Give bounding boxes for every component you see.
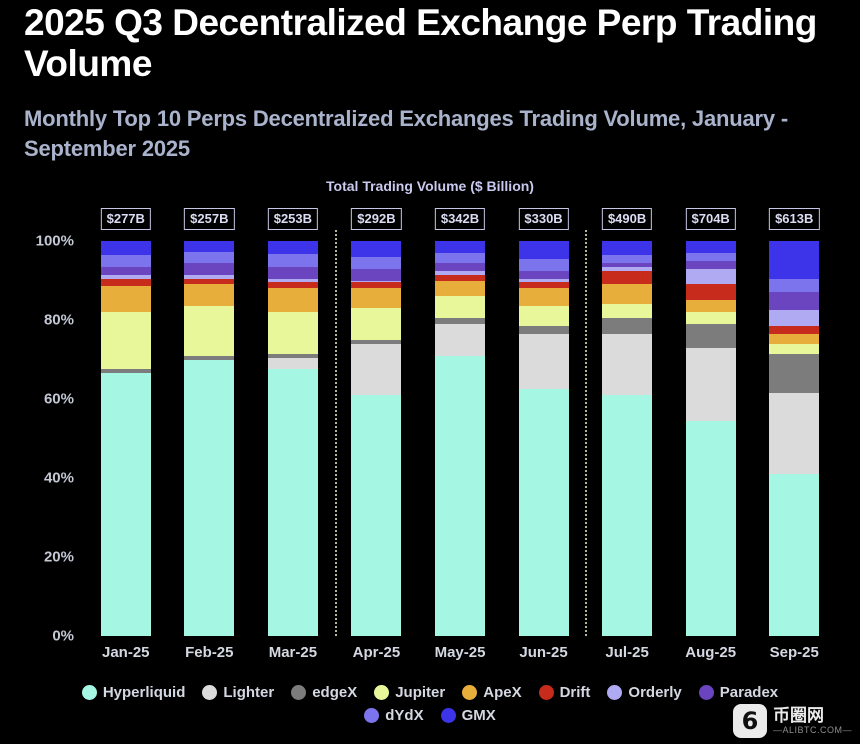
bar-segment-paradex[interactable] [268, 267, 318, 280]
bar-segment-gmx[interactable] [184, 241, 234, 252]
bar-segment-gmx[interactable] [769, 241, 819, 279]
page-subtitle: Monthly Top 10 Perps Decentralized Excha… [24, 104, 836, 165]
bar-segment-paradex[interactable] [519, 271, 569, 279]
legend-row-2: dYdXGMX [0, 707, 860, 724]
legend-swatch-icon [202, 685, 217, 700]
x-axis-tick: Mar-25 [269, 644, 317, 661]
bar-segment-edgex[interactable] [435, 318, 485, 324]
bar-segment-lighter[interactable] [435, 324, 485, 356]
watermark: 6 币圈网 —ALIBTC.COM— [733, 704, 852, 738]
bar-segment-hyperliquid[interactable] [602, 395, 652, 636]
bar-segment-jupiter[interactable] [268, 312, 318, 353]
legend-label: GMX [462, 707, 496, 724]
legend-item-hyperliquid[interactable]: Hyperliquid [82, 684, 186, 701]
y-axis-tick: 40% [44, 470, 74, 487]
bar-segment-drift[interactable] [351, 282, 401, 288]
bar-segment-dydx[interactable] [435, 253, 485, 263]
bar-segment-drift[interactable] [101, 279, 151, 287]
bar-segment-dydx[interactable] [351, 257, 401, 269]
legend-label: Paradex [720, 684, 778, 701]
bar-segment-edgex[interactable] [184, 356, 234, 360]
bar-segment-paradex[interactable] [686, 261, 736, 269]
bar-segment-drift[interactable] [268, 282, 318, 288]
y-axis-tick: 80% [44, 312, 74, 329]
x-axis-tick: Apr-25 [353, 644, 401, 661]
bar-segment-jupiter[interactable] [101, 312, 151, 369]
bar-segment-gmx[interactable] [602, 241, 652, 255]
chart-page: 2025 Q3 Decentralized Exchange Perp Trad… [0, 0, 860, 744]
bar-segment-apex[interactable] [686, 300, 736, 312]
bar-jul-25[interactable] [602, 241, 652, 636]
bar-segment-jupiter[interactable] [519, 306, 569, 326]
legend-swatch-icon [291, 685, 306, 700]
legend-label: Orderly [628, 684, 681, 701]
bar-segment-apex[interactable] [184, 284, 234, 306]
bar-segment-edgex[interactable] [602, 318, 652, 334]
bar-jan-25[interactable] [101, 241, 151, 636]
bar-segment-jupiter[interactable] [769, 344, 819, 354]
bar-segment-orderly[interactable] [184, 275, 234, 278]
bar-segment-apex[interactable] [101, 286, 151, 312]
bar-segment-hyperliquid[interactable] [686, 421, 736, 636]
bar-segment-jupiter[interactable] [351, 308, 401, 340]
bar-apr-25[interactable] [351, 241, 401, 636]
volume-axis-header: Total Trading Volume ($ Billion) [0, 178, 860, 194]
total-volume-label: $704B [686, 208, 736, 230]
bar-segment-lighter[interactable] [602, 334, 652, 395]
bar-segment-paradex[interactable] [769, 292, 819, 310]
bar-segment-dydx[interactable] [184, 252, 234, 263]
bar-segment-orderly[interactable] [268, 279, 318, 282]
legend-item-edgex[interactable]: edgeX [291, 684, 357, 701]
legend-label: Hyperliquid [103, 684, 186, 701]
bar-segment-gmx[interactable] [268, 241, 318, 254]
bar-segment-hyperliquid[interactable] [519, 389, 569, 636]
bar-segment-paradex[interactable] [101, 267, 151, 275]
bar-segment-drift[interactable] [769, 326, 819, 334]
legend-item-orderly[interactable]: Orderly [607, 684, 681, 701]
bar-segment-edgex[interactable] [101, 369, 151, 373]
bar-segment-gmx[interactable] [519, 241, 569, 259]
bar-segment-gmx[interactable] [101, 241, 151, 255]
bar-segment-jupiter[interactable] [602, 304, 652, 318]
legend-item-paradex[interactable]: Paradex [699, 684, 778, 701]
bar-segment-lighter[interactable] [519, 334, 569, 389]
legend-row-1: HyperliquidLighteredgeXJupiterApeXDriftO… [0, 684, 860, 701]
bar-may-25[interactable] [435, 241, 485, 636]
legend-label: Lighter [223, 684, 274, 701]
watermark-badge-icon: 6 [733, 704, 767, 738]
watermark-url: —ALIBTC.COM— [773, 725, 852, 735]
total-volume-label: $257B [184, 208, 234, 230]
bar-segment-dydx[interactable] [686, 253, 736, 261]
legend-swatch-icon [364, 708, 379, 723]
total-volume-label: $330B [518, 208, 568, 230]
bar-segment-orderly[interactable] [519, 279, 569, 283]
bar-segment-orderly[interactable] [351, 281, 401, 283]
legend-item-jupiter[interactable]: Jupiter [374, 684, 445, 701]
bar-segment-edgex[interactable] [769, 354, 819, 394]
bar-segment-dydx[interactable] [101, 255, 151, 267]
bar-segment-hyperliquid[interactable] [184, 360, 234, 637]
legend-swatch-icon [82, 685, 97, 700]
bar-segment-dydx[interactable] [769, 279, 819, 293]
bar-segment-orderly[interactable] [101, 275, 151, 279]
x-axis-tick: Jul-25 [605, 644, 648, 661]
stacked-bar-chart: 0%20%40%60%80%100%$277BJan-25$257BFeb-25… [84, 241, 836, 636]
bar-segment-dydx[interactable] [519, 259, 569, 271]
bar-segment-gmx[interactable] [351, 241, 401, 257]
legend-item-gmx[interactable]: GMX [441, 707, 496, 724]
bar-segment-edgex[interactable] [519, 326, 569, 334]
watermark-name: 币圈网 [773, 707, 852, 725]
x-axis-tick: Aug-25 [685, 644, 736, 661]
y-axis-tick: 100% [36, 233, 74, 250]
bar-segment-orderly[interactable] [686, 269, 736, 285]
legend-swatch-icon [441, 708, 456, 723]
bar-segment-hyperliquid[interactable] [101, 373, 151, 636]
bar-segment-jupiter[interactable] [435, 296, 485, 318]
total-volume-label: $613B [769, 208, 819, 230]
bar-segment-orderly[interactable] [602, 267, 652, 270]
total-volume-label: $277B [101, 208, 151, 230]
legend-label: Jupiter [395, 684, 445, 701]
y-axis-tick: 0% [52, 628, 74, 645]
bar-segment-paradex[interactable] [184, 263, 234, 276]
x-axis-tick: May-25 [435, 644, 486, 661]
legend-swatch-icon [374, 685, 389, 700]
bar-segment-gmx[interactable] [435, 241, 485, 253]
bar-segment-lighter[interactable] [268, 358, 318, 370]
bar-segment-paradex[interactable] [602, 263, 652, 268]
bar-segment-drift[interactable] [184, 279, 234, 285]
bar-segment-orderly[interactable] [435, 271, 485, 275]
total-volume-label: $342B [435, 208, 485, 230]
legend-swatch-icon [699, 685, 714, 700]
total-volume-label: $253B [268, 208, 318, 230]
legend-item-lighter[interactable]: Lighter [202, 684, 274, 701]
legend-label: Drift [560, 684, 591, 701]
legend-label: dYdX [385, 707, 423, 724]
bar-segment-hyperliquid[interactable] [351, 395, 401, 636]
bar-segment-edgex[interactable] [686, 324, 736, 348]
bar-segment-hyperliquid[interactable] [435, 356, 485, 636]
bar-segment-gmx[interactable] [686, 241, 736, 253]
y-axis-tick: 20% [44, 549, 74, 566]
bar-segment-drift[interactable] [602, 271, 652, 285]
chart-legend: HyperliquidLighteredgeXJupiterApeXDriftO… [0, 684, 860, 730]
bar-segment-lighter[interactable] [351, 344, 401, 395]
total-volume-label: $292B [351, 208, 401, 230]
bar-segment-lighter[interactable] [769, 393, 819, 474]
x-axis-tick: Jan-25 [102, 644, 150, 661]
bar-segment-drift[interactable] [686, 284, 736, 300]
y-axis-tick: 60% [44, 391, 74, 408]
bar-mar-25[interactable] [268, 241, 318, 636]
bar-aug-25[interactable] [686, 241, 736, 636]
legend-item-apex[interactable]: ApeX [462, 684, 521, 701]
bar-segment-lighter[interactable] [686, 348, 736, 421]
bar-segment-apex[interactable] [602, 284, 652, 304]
bar-jun-25[interactable] [519, 241, 569, 636]
bar-segment-paradex[interactable] [435, 263, 485, 271]
bar-segment-hyperliquid[interactable] [769, 474, 819, 636]
total-volume-label: $490B [602, 208, 652, 230]
x-axis-tick: Sep-25 [770, 644, 819, 661]
bar-segment-hyperliquid[interactable] [268, 369, 318, 636]
legend-swatch-icon [462, 685, 477, 700]
legend-swatch-icon [539, 685, 554, 700]
quarter-divider [585, 230, 587, 636]
bar-segment-jupiter[interactable] [184, 306, 234, 355]
legend-item-dydx[interactable]: dYdX [364, 707, 423, 724]
bar-segment-edgex[interactable] [268, 354, 318, 358]
bar-segment-drift[interactable] [435, 275, 485, 281]
bar-segment-jupiter[interactable] [686, 312, 736, 324]
legend-label: ApeX [483, 684, 521, 701]
bar-segment-apex[interactable] [769, 334, 819, 344]
bar-segment-apex[interactable] [519, 288, 569, 306]
bar-segment-dydx[interactable] [268, 254, 318, 267]
page-title: 2025 Q3 Decentralized Exchange Perp Trad… [24, 2, 836, 85]
x-axis-tick: Feb-25 [185, 644, 233, 661]
legend-item-drift[interactable]: Drift [539, 684, 591, 701]
bar-segment-apex[interactable] [351, 288, 401, 308]
bar-segment-apex[interactable] [435, 281, 485, 297]
bar-segment-apex[interactable] [268, 288, 318, 312]
bar-segment-orderly[interactable] [769, 310, 819, 326]
bar-feb-25[interactable] [184, 241, 234, 636]
bar-segment-paradex[interactable] [351, 269, 401, 281]
bar-sep-25[interactable] [769, 241, 819, 636]
legend-swatch-icon [607, 685, 622, 700]
bar-segment-drift[interactable] [519, 282, 569, 288]
quarter-divider [335, 230, 337, 636]
legend-label: edgeX [312, 684, 357, 701]
bar-segment-dydx[interactable] [602, 255, 652, 263]
x-axis-tick: Jun-25 [519, 644, 567, 661]
bar-segment-edgex[interactable] [351, 340, 401, 344]
